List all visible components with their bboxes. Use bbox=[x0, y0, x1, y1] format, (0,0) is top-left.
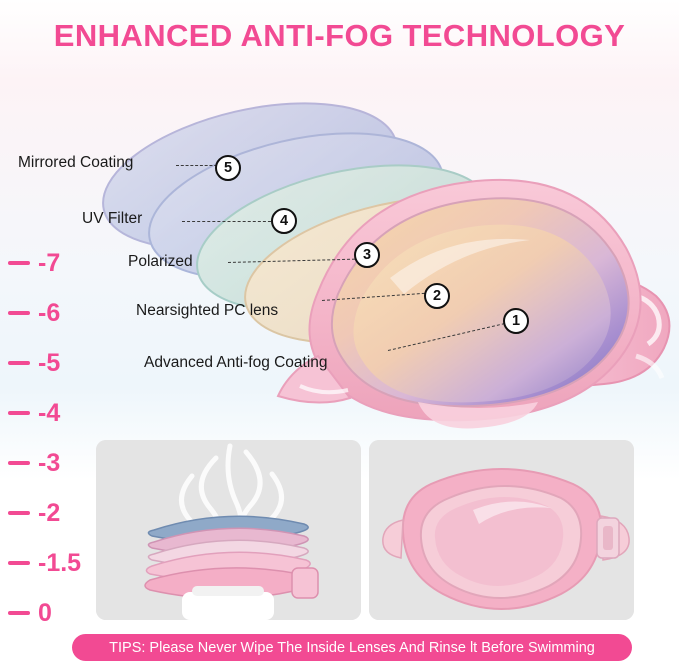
diopter-dash-icon bbox=[8, 461, 30, 465]
diopter-dash-icon bbox=[8, 561, 30, 565]
goggles-front-photo bbox=[369, 440, 634, 620]
diopter-dash-icon bbox=[8, 311, 30, 315]
diopter-row: -1.5 bbox=[8, 550, 81, 576]
diopter-dash-icon bbox=[8, 361, 30, 365]
diopter-dash-icon bbox=[8, 511, 30, 515]
diopter-dash-icon bbox=[8, 411, 30, 415]
callout-badge-1: 1 bbox=[503, 308, 529, 334]
diopter-scale: -7 -6 -5 -4 -3 -2 -1.5 0 bbox=[8, 250, 84, 628]
diopter-dash-icon bbox=[8, 261, 30, 265]
diopter-row: 0 bbox=[8, 600, 52, 626]
callout-badge-5: 5 bbox=[215, 155, 241, 181]
callout-badge-2: 2 bbox=[424, 283, 450, 309]
page-title: ENHANCED ANTI-FOG TECHNOLOGY bbox=[0, 18, 679, 54]
tips-banner: TIPS: Please Never Wipe The Inside Lense… bbox=[72, 634, 632, 661]
diopter-value: -1.5 bbox=[38, 551, 81, 576]
diopter-row: -5 bbox=[8, 350, 60, 376]
diopter-value: -7 bbox=[38, 251, 60, 276]
anti-fog-steam-photo bbox=[96, 440, 361, 620]
diopter-row: -6 bbox=[8, 300, 60, 326]
goggles-lens-layer-illustration bbox=[0, 56, 679, 436]
callout-label-uv-filter: UV Filter bbox=[82, 210, 142, 228]
callout-label-nearsighted-pc-lens: Nearsighted PC lens bbox=[136, 302, 278, 320]
diopter-value: -2 bbox=[38, 501, 60, 526]
callout-badge-3: 3 bbox=[354, 242, 380, 268]
callout-badge-4: 4 bbox=[271, 208, 297, 234]
diopter-value: -6 bbox=[38, 301, 60, 326]
diopter-value: -4 bbox=[38, 401, 60, 426]
diopter-dash-icon bbox=[8, 611, 30, 615]
diopter-value: 0 bbox=[38, 601, 52, 626]
product-infographic: ENHANCED ANTI-FOG TECHNOLOGY bbox=[0, 0, 679, 667]
diopter-row: -7 bbox=[8, 250, 60, 276]
diopter-row: -2 bbox=[8, 500, 60, 526]
diopter-value: -5 bbox=[38, 351, 60, 376]
callout-label-advanced-anti-fog-coating: Advanced Anti-fog Coating bbox=[144, 354, 328, 372]
callout-label-mirrored-coating: Mirrored Coating bbox=[18, 154, 133, 172]
diopter-row: -4 bbox=[8, 400, 60, 426]
diopter-value: -3 bbox=[38, 451, 60, 476]
callout-label-polarized: Polarized bbox=[128, 253, 193, 271]
diopter-row: -3 bbox=[8, 450, 60, 476]
